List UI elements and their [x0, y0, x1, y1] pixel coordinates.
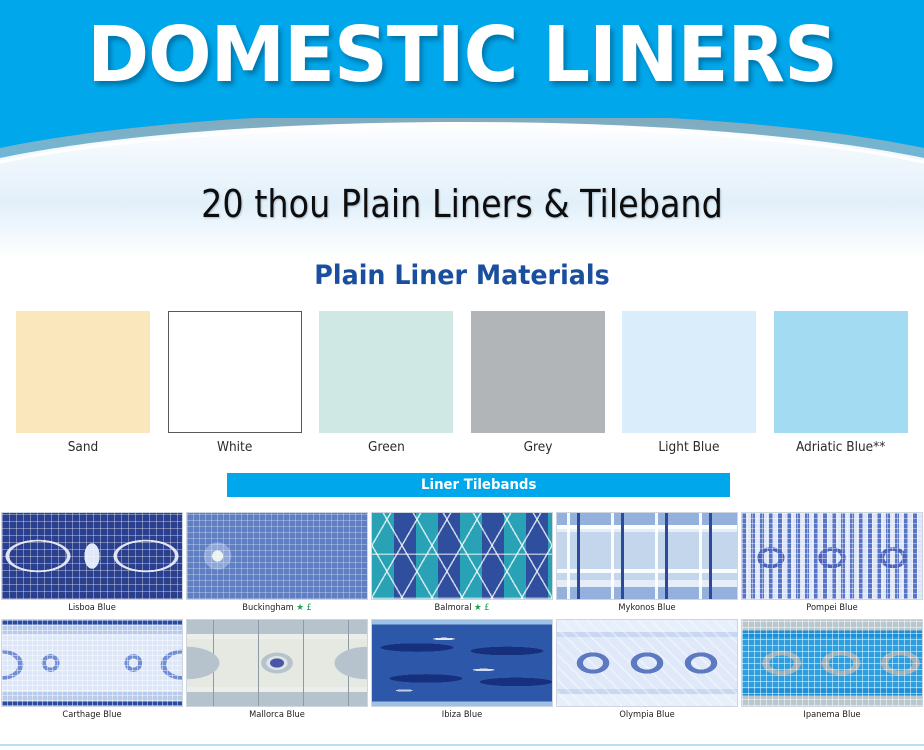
liner-catalogue-page: DOMESTIC LINERS 20 thou Plain Liners [0, 0, 924, 750]
swatch-label: Sand [68, 439, 99, 455]
swatch-label: White [217, 439, 252, 455]
tileband-caption: Mykonos Blue [563, 603, 730, 613]
tileband-caption: Carthage Blue [8, 710, 175, 720]
page-subtitle: 20 thou Plain Liners & Tileband [55, 182, 868, 226]
tileband-pattern-artwork [187, 620, 367, 706]
tileband-caption: Balmoral ★ £ [378, 603, 545, 613]
tileband-name: Carthage Blue [62, 710, 121, 720]
tileband-name: Lisboa Blue [68, 603, 116, 613]
tileband-pattern-artwork [187, 513, 367, 599]
plain-liner-swatch-cell[interactable]: White [168, 311, 302, 457]
tileband-cell[interactable]: Ipanema Blue [741, 619, 923, 720]
tileband-cell[interactable]: Ibiza Blue [371, 619, 553, 720]
tileband-pattern-artwork [2, 620, 182, 706]
swatch-colour-chip[interactable] [622, 311, 756, 433]
tileband-sample-image[interactable] [741, 512, 923, 600]
tileband-cell[interactable]: Balmoral ★ £ [371, 512, 553, 613]
tileband-pattern-artwork [2, 513, 182, 599]
tileband-caption: Buckingham ★ £ [193, 603, 360, 613]
swatch-colour-chip[interactable] [319, 311, 453, 433]
tileband-name: Ipanema Blue [803, 710, 860, 720]
swatch-colour-chip[interactable] [168, 311, 302, 433]
star-icon: ★ [294, 603, 304, 613]
tileband-sample-image[interactable] [741, 619, 923, 707]
tileband-pattern-artwork [372, 513, 552, 599]
tileband-pattern-artwork [742, 513, 922, 599]
plain-liner-swatch-cell[interactable]: Grey [471, 311, 605, 457]
tileband-caption: Ipanema Blue [748, 710, 915, 720]
tileband-cell[interactable]: Mallorca Blue [186, 619, 368, 720]
tileband-caption: Ibiza Blue [378, 710, 545, 720]
tileband-cell[interactable]: Buckingham ★ £ [186, 512, 368, 613]
tileband-pattern-artwork [557, 513, 737, 599]
plain-liner-swatch-row: SandWhiteGreenGreyLight BlueAdriatic Blu… [0, 311, 924, 457]
pound-surcharge-icon: £ [482, 603, 490, 613]
tileband-row: Carthage BlueMallorca BlueIbiza BlueOlym… [0, 619, 924, 720]
tileband-sample-image[interactable] [186, 619, 368, 707]
liner-tilebands-bar: Liner Tilebands [227, 473, 730, 497]
swatch-label: Light Blue [659, 439, 720, 455]
tileband-name: Balmoral [435, 603, 472, 613]
bottom-divider-rule [0, 744, 924, 746]
swatch-colour-chip[interactable] [16, 311, 150, 433]
swatch-label: Adriatic Blue** [796, 439, 885, 455]
tileband-sample-image[interactable] [556, 619, 738, 707]
star-icon: ★ [472, 603, 482, 613]
plain-liner-swatch-cell[interactable]: Adriatic Blue** [774, 311, 908, 457]
tileband-name: Mallorca Blue [249, 710, 305, 720]
plain-liner-materials-heading: Plain Liner Materials [28, 260, 897, 291]
tileband-sample-image[interactable] [1, 512, 183, 600]
tileband-name: Ibiza Blue [442, 710, 482, 720]
tileband-sample-image[interactable] [371, 512, 553, 600]
tileband-pattern-artwork [742, 620, 922, 706]
plain-liner-swatch-cell[interactable]: Sand [16, 311, 150, 457]
page-header-banner: DOMESTIC LINERS [0, 0, 924, 160]
tileband-sample-image[interactable] [186, 512, 368, 600]
tileband-row: Lisboa BlueBuckingham ★ £Balmoral ★ £Myk… [0, 512, 924, 613]
tileband-sample-image[interactable] [556, 512, 738, 600]
tileband-name: Mykonos Blue [618, 603, 675, 613]
tileband-name: Buckingham [242, 603, 293, 613]
plain-liner-swatch-cell[interactable]: Green [319, 311, 453, 457]
swatch-label: Green [368, 439, 405, 455]
swatch-colour-chip[interactable] [774, 311, 908, 433]
liner-tilebands-bar-label: Liner Tilebands [421, 477, 536, 493]
tileband-pattern-artwork [557, 620, 737, 706]
tileband-cell[interactable]: Olympia Blue [556, 619, 738, 720]
swatch-label: Grey [523, 439, 552, 455]
tileband-cell[interactable]: Carthage Blue [1, 619, 183, 720]
tileband-name: Pompei Blue [806, 603, 857, 613]
page-title: DOMESTIC LINERS [14, 16, 910, 97]
plain-liner-swatch-cell[interactable]: Light Blue [622, 311, 756, 457]
tileband-caption: Olympia Blue [563, 710, 730, 720]
tileband-name: Olympia Blue [619, 710, 674, 720]
tileband-cell[interactable]: Pompei Blue [741, 512, 923, 613]
tileband-pattern-artwork [372, 620, 552, 706]
tileband-grid: Lisboa BlueBuckingham ★ £Balmoral ★ £Myk… [0, 512, 924, 726]
tileband-cell[interactable]: Mykonos Blue [556, 512, 738, 613]
pound-surcharge-icon: £ [304, 603, 312, 613]
tileband-sample-image[interactable] [1, 619, 183, 707]
tileband-caption: Mallorca Blue [193, 710, 360, 720]
tileband-sample-image[interactable] [371, 619, 553, 707]
swatch-colour-chip[interactable] [471, 311, 605, 433]
tileband-cell[interactable]: Lisboa Blue [1, 512, 183, 613]
tileband-caption: Lisboa Blue [8, 603, 175, 613]
tileband-caption: Pompei Blue [748, 603, 915, 613]
